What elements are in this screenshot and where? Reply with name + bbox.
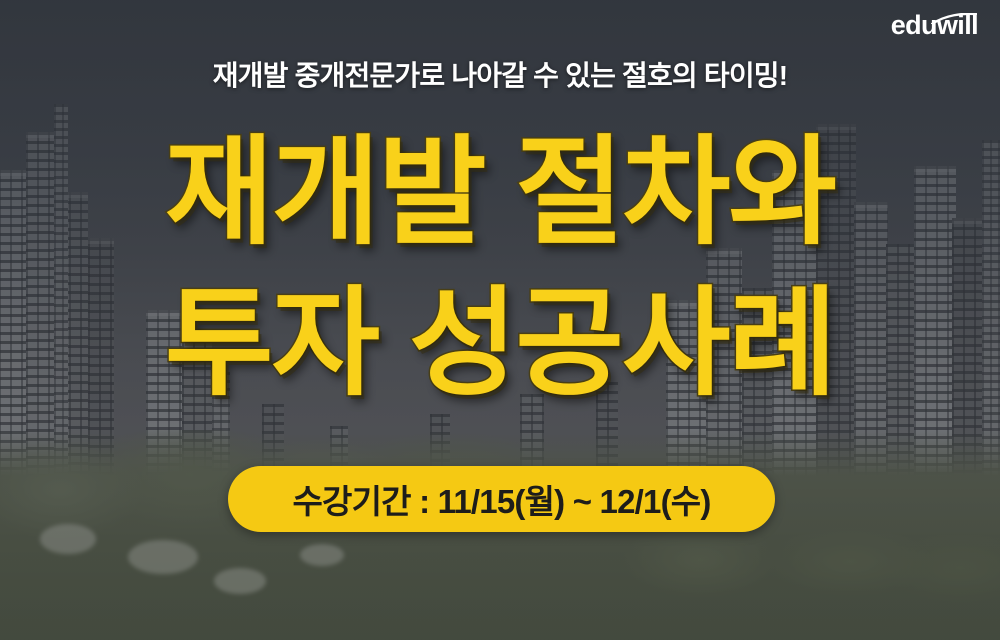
banner-headline: 재개발 절차와 투자 성공사례 bbox=[0, 118, 1000, 420]
banner-content: eduwill 재개발 중개전문가로 나아갈 수 있는 절호의 타이밍! 재개발… bbox=[0, 0, 1000, 640]
enrollment-period-badge[interactable]: 수강기간 : 11/15(월) ~ 12/1(수) bbox=[228, 466, 775, 532]
logo-wordmark: eduwill bbox=[891, 12, 978, 39]
promo-banner: eduwill 재개발 중개전문가로 나아갈 수 있는 절호의 타이밍! 재개발… bbox=[0, 0, 1000, 640]
banner-subtitle: 재개발 중개전문가로 나아갈 수 있는 절호의 타이밍! bbox=[0, 54, 1000, 94]
headline-line-2: 투자 성공사례 bbox=[0, 269, 1000, 420]
headline-line-1: 재개발 절차와 bbox=[0, 118, 1000, 269]
eduwill-logo[interactable]: eduwill bbox=[891, 10, 978, 40]
enrollment-period-text: 수강기간 : 11/15(월) ~ 12/1(수) bbox=[292, 475, 710, 523]
